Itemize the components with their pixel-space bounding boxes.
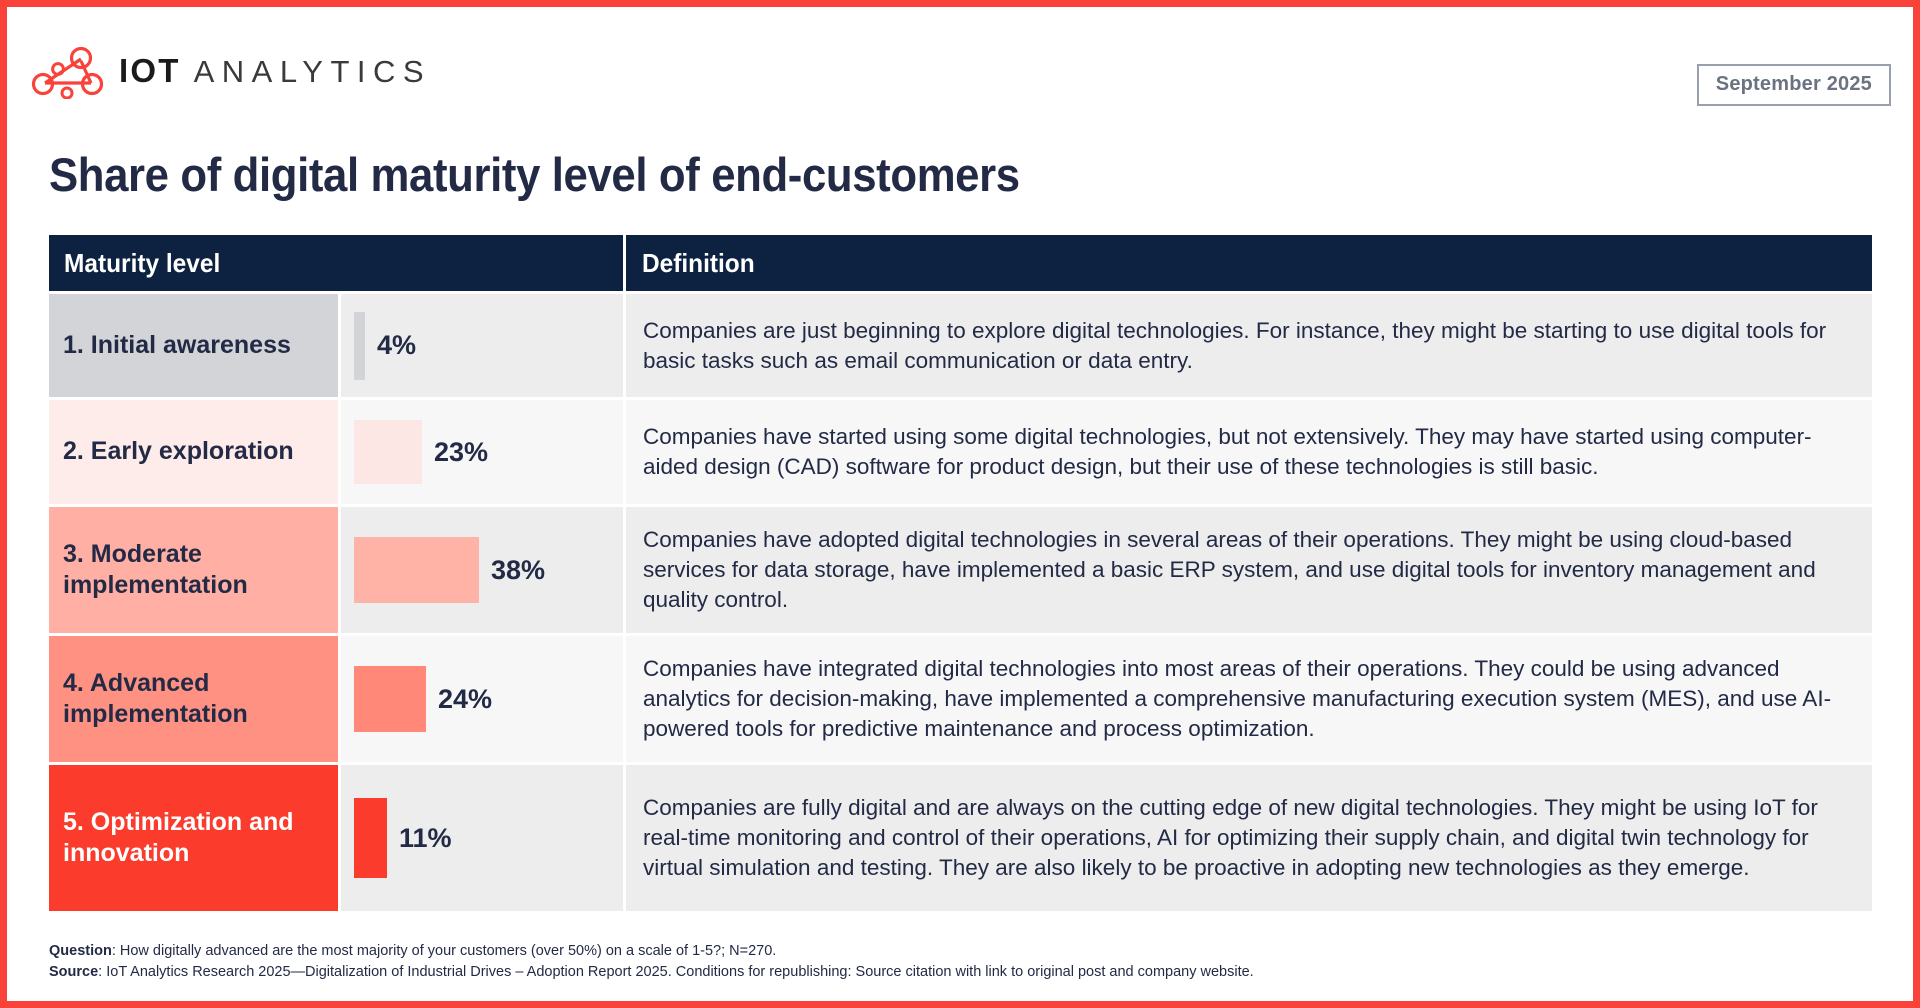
brand-logo: IOT ANALYTICS <box>29 43 431 99</box>
brand-wordmark: IOT ANALYTICS <box>119 52 431 90</box>
cell-maturity-level: 4. Advanced implementation <box>49 636 338 762</box>
cell-bar: 11% <box>341 765 623 911</box>
infographic-page: IOT ANALYTICS September 2025 Share of di… <box>0 0 1920 1008</box>
cell-bar: 24% <box>341 636 623 762</box>
definition-text: Companies have adopted digital technolog… <box>643 525 1856 615</box>
bar-share <box>354 798 387 878</box>
bar-value-label: 11% <box>399 823 452 854</box>
bar-value-label: 38% <box>491 555 545 586</box>
bar-share <box>354 420 422 484</box>
date-badge: September 2025 <box>1697 64 1891 106</box>
bar-value-label: 4% <box>377 330 416 361</box>
maturity-table: Maturity level Definition 1. Initial awa… <box>49 235 1872 911</box>
cell-bar: 38% <box>341 507 623 633</box>
cell-bar: 23% <box>341 400 623 504</box>
cell-definition: Companies are fully digital and are alwa… <box>626 765 1872 911</box>
bar-share <box>354 666 426 732</box>
brand-name-analytics: ANALYTICS <box>194 54 431 90</box>
column-header-definition: Definition <box>626 248 755 279</box>
footer-notes: Question: How digitally advanced are the… <box>49 941 1254 985</box>
table-row: 4. Advanced implementation 24% Companies… <box>49 636 1872 762</box>
footer-question-line: Question: How digitally advanced are the… <box>49 941 1254 963</box>
cell-maturity-level: 2. Early exploration <box>49 400 338 504</box>
table-row: 3. Moderate implementation 38% Companies… <box>49 507 1872 633</box>
bar-value-label: 24% <box>438 684 492 715</box>
maturity-level-label: 5. Optimization and innovation <box>63 807 324 870</box>
bar-value-label: 23% <box>434 437 488 468</box>
footer-question-text: : How digitally advanced are the most ma… <box>112 943 777 959</box>
cell-definition: Companies have adopted digital technolog… <box>626 507 1872 633</box>
cell-bar: 4% <box>341 294 623 397</box>
cell-definition: Companies are just beginning to explore … <box>626 294 1872 397</box>
cell-maturity-level: 3. Moderate implementation <box>49 507 338 633</box>
table-row: 5. Optimization and innovation 11% Compa… <box>49 765 1872 911</box>
definition-text: Companies have integrated digital techno… <box>643 654 1856 744</box>
footer-question-label: Question <box>49 943 112 959</box>
bar-share <box>354 537 479 603</box>
table-row: 1. Initial awareness 4% Companies are ju… <box>49 294 1872 397</box>
maturity-level-label: 1. Initial awareness <box>63 330 291 361</box>
footer-source-label: Source <box>49 964 98 980</box>
cell-maturity-level: 1. Initial awareness <box>49 294 338 397</box>
definition-text: Companies are just beginning to explore … <box>643 316 1856 376</box>
brand-name-iot: IOT <box>119 52 181 90</box>
iot-network-logo-icon <box>29 43 103 99</box>
cell-maturity-level: 5. Optimization and innovation <box>49 765 338 911</box>
page-header: IOT ANALYTICS September 2025 <box>7 7 1913 117</box>
bar-share <box>354 312 365 380</box>
page-inner: IOT ANALYTICS September 2025 Share of di… <box>7 7 1913 1001</box>
table-row: 2. Early exploration 23% Companies have … <box>49 400 1872 504</box>
cell-definition: Companies have integrated digital techno… <box>626 636 1872 762</box>
maturity-level-label: 3. Moderate implementation <box>63 539 324 602</box>
definition-text: Companies are fully digital and are alwa… <box>643 793 1856 883</box>
definition-text: Companies have started using some digita… <box>643 422 1856 482</box>
footer-source-text: : IoT Analytics Research 2025—Digitaliza… <box>98 964 1254 980</box>
maturity-level-label: 4. Advanced implementation <box>63 668 324 731</box>
column-header-maturity-level: Maturity level <box>49 248 589 279</box>
page-title: Share of digital maturity level of end-c… <box>49 147 1020 202</box>
cell-definition: Companies have started using some digita… <box>626 400 1872 504</box>
table-header-row: Maturity level Definition <box>49 235 1872 291</box>
maturity-level-label: 2. Early exploration <box>63 436 294 467</box>
footer-source-line: Source: IoT Analytics Research 2025—Digi… <box>49 962 1254 984</box>
